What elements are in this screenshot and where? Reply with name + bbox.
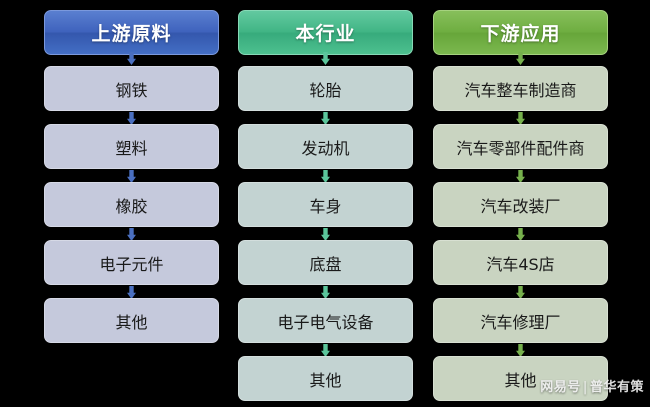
chain-node[interactable]: 橡胶 — [44, 182, 219, 227]
chain-node[interactable]: 电子元件 — [44, 240, 219, 285]
chain-node-label: 底盘 — [309, 251, 341, 275]
chain-node[interactable]: 汽车修理厂 — [433, 298, 608, 343]
chain-node[interactable]: 车身 — [238, 182, 413, 227]
chain-node[interactable]: 汽车整车制造商 — [433, 66, 608, 111]
chain-column-upstream: 上游原料钢铁塑料橡胶电子元件其他 — [44, 0, 219, 407]
flow-arrow-down-icon — [127, 52, 136, 65]
chain-node[interactable]: 其他 — [44, 298, 219, 343]
column-header-label: 上游原料 — [91, 19, 171, 46]
chain-node[interactable]: 汽车4S店 — [433, 240, 608, 285]
chain-node-label: 汽车4S店 — [486, 251, 554, 275]
column-header-downstream[interactable]: 下游应用 — [433, 10, 608, 55]
column-header-upstream[interactable]: 上游原料 — [44, 10, 219, 55]
watermark-author: 普华有策 — [590, 380, 644, 395]
chain-node-label: 汽车修理厂 — [480, 309, 560, 333]
industry-chain-diagram: 上游原料钢铁塑料橡胶电子元件其他本行业轮胎发动机车身底盘电子电气设备其他下游应用… — [0, 0, 650, 407]
chain-node[interactable]: 汽车改装厂 — [433, 182, 608, 227]
flow-arrow-down-icon — [321, 52, 330, 65]
chain-node-label: 汽车改装厂 — [480, 193, 560, 217]
chain-node[interactable]: 轮胎 — [238, 66, 413, 111]
chain-node-label: 钢铁 — [115, 77, 147, 101]
chain-node-label: 车身 — [309, 193, 341, 217]
chain-node-label: 其他 — [504, 367, 536, 391]
column-header-industry[interactable]: 本行业 — [238, 10, 413, 55]
chain-node-label: 橡胶 — [115, 193, 147, 217]
chain-node[interactable]: 其他 — [238, 356, 413, 401]
chain-node-label: 塑料 — [115, 135, 147, 159]
column-header-label: 本行业 — [295, 19, 355, 46]
chain-node-label: 汽车整车制造商 — [464, 77, 576, 101]
column-header-label: 下游应用 — [480, 19, 560, 46]
watermark: 网易号|普华有策 — [540, 376, 644, 395]
chain-node-label: 汽车零部件配件商 — [456, 135, 584, 159]
chain-node-label: 电子电气设备 — [277, 309, 373, 333]
chain-node-label: 轮胎 — [309, 77, 341, 101]
chain-node[interactable]: 汽车零部件配件商 — [433, 124, 608, 169]
chain-node[interactable]: 底盘 — [238, 240, 413, 285]
chain-node[interactable]: 塑料 — [44, 124, 219, 169]
chain-node-label: 电子元件 — [99, 251, 163, 275]
chain-node-label: 发动机 — [301, 135, 349, 159]
flow-arrow-down-icon — [516, 52, 525, 65]
chain-node[interactable]: 电子电气设备 — [238, 298, 413, 343]
chain-node[interactable]: 发动机 — [238, 124, 413, 169]
chain-node-label: 其他 — [115, 309, 147, 333]
chain-column-industry: 本行业轮胎发动机车身底盘电子电气设备其他 — [238, 0, 413, 407]
watermark-separator: | — [581, 380, 590, 395]
chain-node[interactable]: 钢铁 — [44, 66, 219, 111]
chain-node-label: 其他 — [309, 367, 341, 391]
chain-column-downstream: 下游应用汽车整车制造商汽车零部件配件商汽车改装厂汽车4S店汽车修理厂其他 — [433, 0, 608, 407]
watermark-source: 网易号 — [540, 380, 581, 395]
